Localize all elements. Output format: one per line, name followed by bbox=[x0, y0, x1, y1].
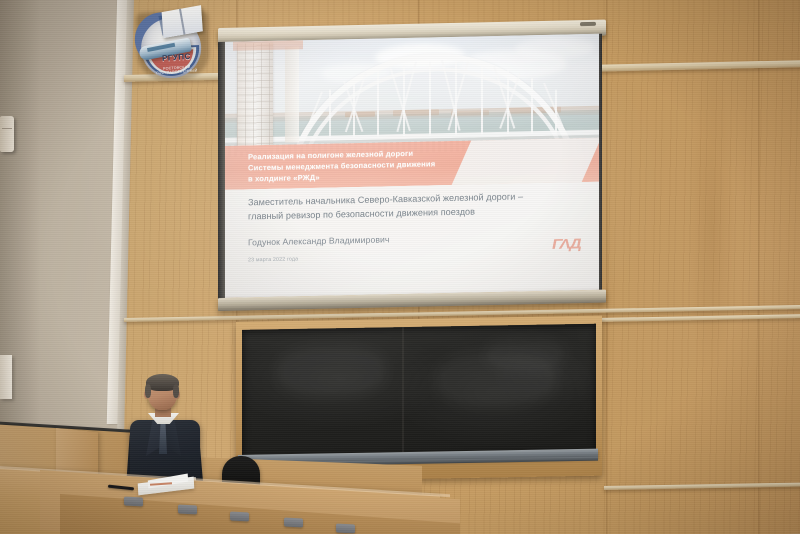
slide-body: Заместитель начальника Северо-Кавказской… bbox=[225, 182, 599, 298]
screen-left-edge bbox=[218, 42, 225, 300]
desk-cable-grommet bbox=[178, 505, 197, 515]
panel-seam bbox=[606, 0, 608, 534]
panel-seam bbox=[758, 0, 760, 534]
crane-beam bbox=[233, 40, 303, 51]
projector-screen: Реализация на полигоне железной дороги С… bbox=[222, 34, 600, 310]
chalkboard-panel-split bbox=[402, 327, 404, 455]
chalkboard bbox=[236, 316, 602, 482]
slide-date: 23 марта 2022 года bbox=[248, 256, 298, 263]
banner-line-3: в холдинге «РЖД» bbox=[248, 173, 320, 185]
lecture-hall-photo: РГУПС РОСТОВСКИЙ ГОСУДАРСТВЕННЫЙ bbox=[0, 0, 800, 534]
speaker-name: Годунок Александр Владимирович bbox=[248, 234, 390, 247]
slide-surface: Реализация на полигоне железной дороги С… bbox=[225, 34, 599, 298]
rzd-logo: ΓΛД bbox=[551, 236, 583, 253]
rgups-emblem: РГУПС РОСТОВСКИЙ ГОСУДАРСТВЕННЫЙ bbox=[132, 5, 213, 84]
wall-speaker-device bbox=[0, 116, 14, 152]
screen-roller-end-cap bbox=[580, 22, 596, 26]
desk-cable-grommet bbox=[124, 497, 143, 507]
desk-cable-grommet bbox=[230, 512, 249, 522]
lift-tower-secondary bbox=[285, 46, 299, 142]
desk-cable-grommet bbox=[284, 518, 303, 528]
wall-outlet-box bbox=[0, 355, 12, 399]
desk-cable-grommet bbox=[336, 524, 355, 534]
